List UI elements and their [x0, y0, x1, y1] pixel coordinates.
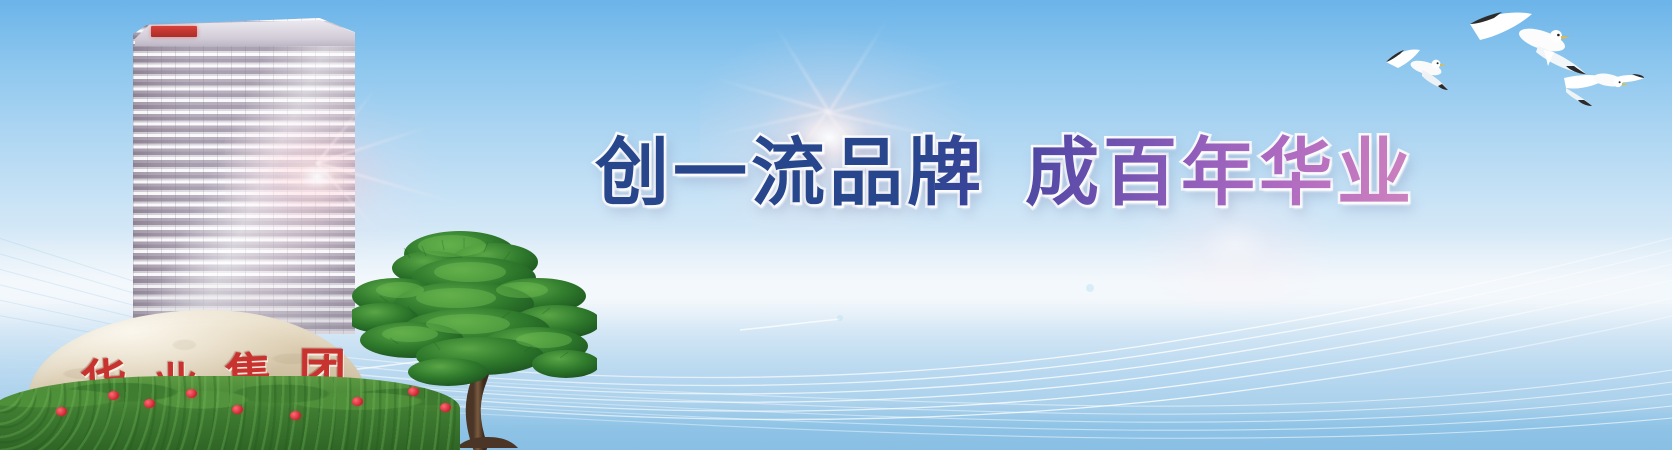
hedge-flower — [408, 387, 419, 396]
hedge-leaf-texture — [0, 376, 460, 450]
hedge-flower — [56, 407, 67, 416]
hedge-shrub — [0, 376, 460, 450]
tree-foliage — [352, 231, 597, 386]
slogan-headline: 创一流品牌 成百年华业 — [595, 128, 1415, 220]
corporate-hero-banner: 华 业 集 团 — [0, 0, 1672, 450]
hedge-flower — [232, 405, 243, 414]
high-rise-building — [133, 18, 355, 334]
hedge-flower — [440, 403, 451, 412]
tree-root-flare — [456, 437, 518, 448]
hedge-flower — [352, 397, 363, 406]
seagull-left — [1386, 50, 1448, 91]
seagull-bottom-right — [1564, 71, 1644, 106]
seagull-top-right — [1470, 12, 1586, 74]
tower-rooftop-logo-sign — [151, 26, 197, 37]
hedge-flower — [290, 411, 301, 420]
seagulls-group — [1370, 4, 1670, 124]
hedge-flower — [186, 389, 197, 398]
hedge-flower — [108, 391, 119, 400]
slogan-part-2: 成百年华业 — [1025, 137, 1415, 211]
slogan-part-1: 创一流品牌 — [595, 137, 985, 211]
hedge-flower — [144, 399, 155, 408]
